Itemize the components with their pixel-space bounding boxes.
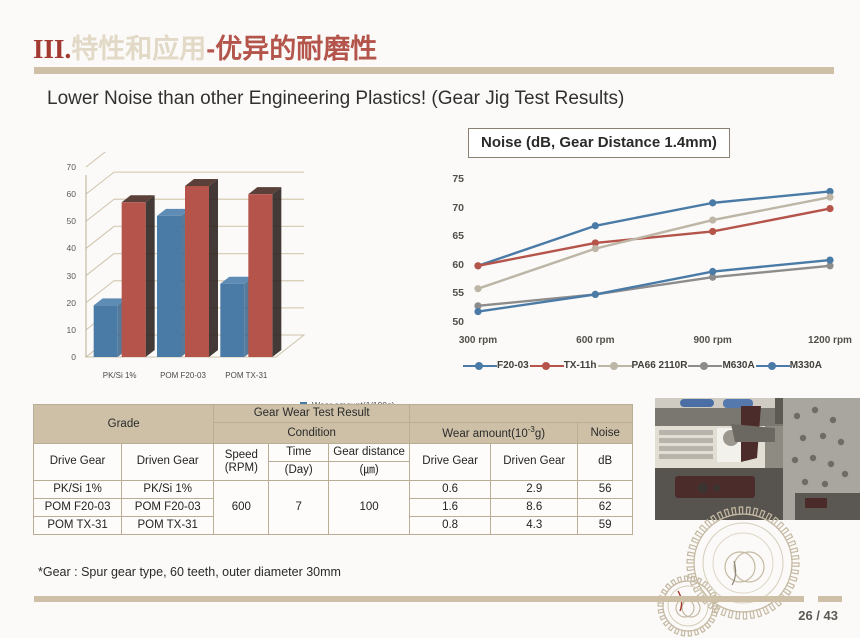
line-y-tick-label: 75 bbox=[442, 173, 464, 185]
line-legend-entry: M630A bbox=[688, 360, 755, 371]
col-header-gear-distance: Gear distance bbox=[329, 444, 410, 462]
line-chart-svg bbox=[430, 128, 850, 363]
legend-line-marker-icon bbox=[530, 361, 564, 371]
bar-y-tick-label: 40 bbox=[54, 243, 76, 253]
col-header-wear-drive: Drive Gear bbox=[410, 444, 491, 480]
cell-wear-drive: 0.8 bbox=[410, 517, 491, 535]
line-legend-label: TX-11h bbox=[564, 360, 597, 371]
bar-chart-svg bbox=[28, 152, 418, 387]
line-y-tick-label: 55 bbox=[442, 287, 464, 299]
line-chart: Noise (dB, Gear Distance 1.4mm) 50556065… bbox=[430, 128, 850, 388]
line-y-tick-label: 70 bbox=[442, 202, 464, 214]
table-header-condition: Condition bbox=[214, 423, 410, 444]
line-x-tick-label: 300 rpm bbox=[438, 335, 518, 346]
legend-line-marker-icon bbox=[688, 361, 722, 371]
col-header-speed-unit: (RPM) bbox=[217, 462, 265, 475]
line-legend-entry: F20-03 bbox=[463, 360, 530, 371]
line-legend-label: M630A bbox=[722, 360, 754, 371]
legend-line-marker-icon bbox=[756, 361, 790, 371]
cell-driven-gear: POM F20-03 bbox=[122, 498, 214, 516]
line-y-tick-label: 65 bbox=[442, 230, 464, 242]
cell-noise: 59 bbox=[578, 517, 633, 535]
bar-y-tick-label: 30 bbox=[54, 271, 76, 281]
table-header-super: Gear Wear Test Result bbox=[214, 405, 410, 423]
col-header-driven-gear: Driven Gear bbox=[122, 444, 214, 480]
bar-y-tick-label: 70 bbox=[54, 162, 76, 172]
line-x-tick-label: 900 rpm bbox=[673, 335, 753, 346]
cell-driven-gear: PK/Si 1% bbox=[122, 480, 214, 498]
subtitle: Lower Noise than other Engineering Plast… bbox=[47, 88, 624, 110]
bar-y-tick-label: 60 bbox=[54, 189, 76, 199]
bar-category-label: POM TX-31 bbox=[206, 371, 286, 380]
col-header-time: Time bbox=[269, 444, 329, 462]
col-header-speed-text: Speed bbox=[217, 449, 265, 462]
bar-y-tick-label: 10 bbox=[54, 325, 76, 335]
gear-illustration-svg bbox=[648, 505, 823, 638]
wear-amount-label: Wear amount(10 bbox=[442, 428, 527, 440]
table-header-grade: Grade bbox=[34, 405, 214, 444]
col-header-drive-gear: Drive Gear bbox=[34, 444, 122, 480]
footer-divider-right bbox=[818, 596, 842, 602]
cell-wear-driven: 8.6 bbox=[491, 498, 578, 516]
table-header-super-spacer bbox=[410, 405, 633, 423]
cell-noise: 62 bbox=[578, 498, 633, 516]
table-header-wear-amount: Wear amount(10-3g) bbox=[410, 423, 578, 444]
page-number: 26 / 43 bbox=[798, 608, 838, 623]
table-row: PK/Si 1% PK/Si 1% 600 7 100 0.6 2.9 56 bbox=[34, 480, 633, 498]
footnote: *Gear : Spur gear type, 60 teeth, outer … bbox=[38, 565, 341, 579]
line-x-tick-label: 1200 rpm bbox=[790, 335, 860, 346]
cell-wear-drive: 1.6 bbox=[410, 498, 491, 516]
col-header-speed: Speed (RPM) bbox=[214, 444, 269, 480]
line-chart-legend: F20-03TX-11hPA66 2110RM630AM330A bbox=[436, 360, 850, 371]
wear-amount-tail: g) bbox=[535, 428, 545, 440]
cell-drive-gear: POM F20-03 bbox=[34, 498, 122, 516]
page-title: III.特性和应用-优异的耐磨性 bbox=[33, 27, 377, 66]
gear-jig-test-rig-photo bbox=[655, 398, 860, 520]
cell-drive-gear: PK/Si 1% bbox=[34, 480, 122, 498]
title-faded-text: 特性和应用 bbox=[71, 34, 206, 64]
cell-wear-driven: 2.9 bbox=[491, 480, 578, 498]
cell-driven-gear: POM TX-31 bbox=[122, 517, 214, 535]
col-header-noise-db: dB bbox=[578, 444, 633, 480]
footer-divider bbox=[34, 596, 804, 602]
col-unit-time: (Day) bbox=[269, 462, 329, 480]
line-x-tick-label: 600 rpm bbox=[555, 335, 635, 346]
line-legend-label: M330A bbox=[790, 360, 822, 371]
cell-wear-drive: 0.6 bbox=[410, 480, 491, 498]
line-y-tick-label: 50 bbox=[442, 316, 464, 328]
gear-illustration bbox=[648, 505, 823, 638]
cell-speed-merged: 600 bbox=[214, 480, 269, 535]
line-legend-label: PA66 2110R bbox=[632, 360, 688, 371]
cell-drive-gear: POM TX-31 bbox=[34, 517, 122, 535]
line-legend-entry: TX-11h bbox=[530, 360, 598, 371]
bar-chart: 010203040506070PK/Si 1%POM F20-03POM TX-… bbox=[28, 152, 418, 387]
cell-noise: 56 bbox=[578, 480, 633, 498]
title-number: III. bbox=[33, 34, 71, 64]
bar-y-tick-label: 0 bbox=[54, 352, 76, 362]
table-super-header-row: Grade Gear Wear Test Result bbox=[34, 405, 633, 423]
photo-svg bbox=[655, 398, 860, 520]
title-main-text: -优异的耐磨性 bbox=[206, 34, 377, 64]
line-legend-entry: M330A bbox=[756, 360, 823, 371]
bar-y-tick-label: 20 bbox=[54, 298, 76, 308]
gear-wear-test-table: Grade Gear Wear Test Result Condition We… bbox=[33, 404, 633, 535]
cell-gear-distance-merged: 100 bbox=[329, 480, 410, 535]
table-header-noise: Noise bbox=[578, 423, 633, 444]
header-divider bbox=[34, 67, 834, 74]
line-y-tick-label: 60 bbox=[442, 259, 464, 271]
cell-wear-driven: 4.3 bbox=[491, 517, 578, 535]
slide-canvas: III.特性和应用-优异的耐磨性 Lower Noise than other … bbox=[0, 0, 860, 638]
cell-time-merged: 7 bbox=[269, 480, 329, 535]
col-header-wear-driven: Driven Gear bbox=[491, 444, 578, 480]
line-legend-label: F20-03 bbox=[497, 360, 529, 371]
legend-line-marker-icon bbox=[463, 361, 497, 371]
table-column-header-row: Drive Gear Driven Gear Speed (RPM) Time … bbox=[34, 444, 633, 462]
col-unit-gear-distance: (㎛) bbox=[329, 462, 410, 480]
legend-line-marker-icon bbox=[598, 361, 632, 371]
bar-y-tick-label: 50 bbox=[54, 216, 76, 226]
wear-amount-exponent: -3 bbox=[528, 425, 535, 434]
line-legend-entry: PA66 2110R bbox=[598, 360, 689, 371]
